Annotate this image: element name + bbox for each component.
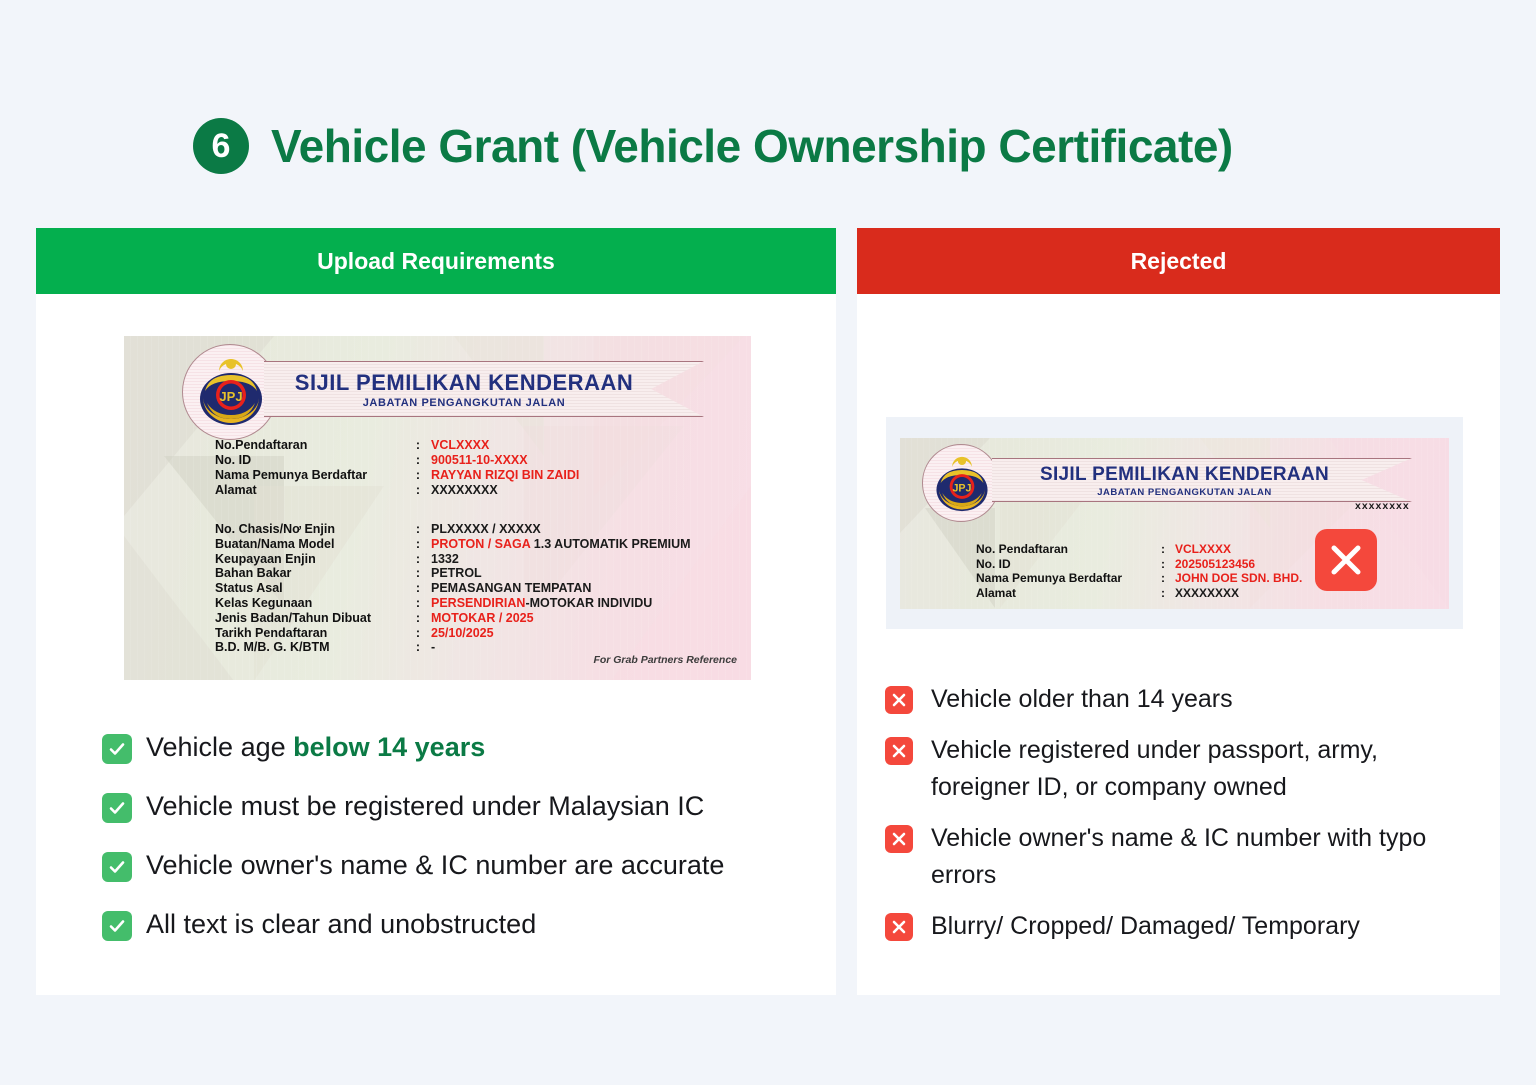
certificate-banner-title: SIJIL PEMILIKAN KENDERAAN: [992, 464, 1377, 486]
certificate-field-colon: :: [405, 611, 431, 626]
certificate-field-value: VCLXXXX: [431, 438, 489, 453]
certificate-field-value: -: [431, 640, 435, 655]
rejected-list-item: Vehicle older than 14 years: [885, 681, 1445, 718]
certificate-field-value: PLXXXXX / XXXXX: [431, 522, 541, 537]
certificate-field-value: 1332: [431, 552, 459, 567]
page-title: Vehicle Grant (Vehicle Ownership Certifi…: [271, 119, 1233, 173]
certificate-field-colon: :: [405, 596, 431, 611]
certificate-footnote: For Grab Partners Reference: [593, 654, 737, 666]
upload-requirements-list: Vehicle age below 14 yearsVehicle must b…: [102, 730, 802, 966]
certificate-field-colon: :: [1151, 557, 1175, 572]
step-number-badge: 6: [193, 118, 249, 174]
certificate-field-row: No. ID:900511-10-XXXX: [215, 453, 579, 468]
rejected-list-item-label: Blurry/ Cropped/ Damaged/ Temporary: [931, 908, 1360, 945]
certificate-field-value: 25/10/2025: [431, 626, 494, 641]
requirement-list-item: Vehicle owner's name & IC number are acc…: [102, 848, 802, 882]
certificate-field-row: Kelas Kegunaan:PERSENDIRIAN-MOTOKAR INDI…: [215, 596, 691, 611]
certificate-field-row: Status Asal:PEMASANGAN TEMPATAN: [215, 581, 691, 596]
jpj-emblem-icon: JPJ: [934, 455, 990, 513]
certificate-field-label: No.Pendaftaran: [215, 438, 405, 453]
certificate-field-colon: :: [1151, 542, 1175, 557]
requirement-list-item-label: Vehicle must be registered under Malaysi…: [146, 789, 704, 823]
certificate-field-value-tail: -MOTOKAR INDIVIDU: [525, 596, 652, 610]
certificate-field-label: Nama Pemunya Berdaftar: [976, 571, 1151, 586]
certificate-field-row: Alamat:XXXXXXXX: [215, 483, 579, 498]
rejected-list-item: Vehicle registered under passport, army,…: [885, 732, 1445, 806]
certificate-field-value: XXXXXXXX: [431, 483, 498, 498]
certificate-field-label: B.D. M/B. G. K/BTM: [215, 640, 405, 655]
check-icon: [102, 911, 132, 941]
jpj-emblem-icon: JPJ: [197, 357, 265, 427]
rejected-list-item-label: Vehicle owner's name & IC number with ty…: [931, 820, 1445, 894]
certificate-field-row: No. ID:202505123456: [976, 557, 1302, 572]
certificate-field-value: JOHN DOE SDN. BHD.: [1175, 571, 1302, 586]
certificate-field-colon: :: [1151, 571, 1175, 586]
certificate-banner-subtitle: JABATAN PENGANGKUTAN JALAN: [992, 487, 1377, 498]
certificate-field-colon: :: [405, 522, 431, 537]
certificate-field-label: Kelas Kegunaan: [215, 596, 405, 611]
certificate-field-colon: :: [405, 626, 431, 641]
certificate-field-row: Tarikh Pendaftaran:25/10/2025: [215, 626, 691, 641]
certificate-field-value: MOTOKAR / 2025: [431, 611, 534, 626]
certificate-field-label: No. Pendaftaran: [976, 542, 1151, 557]
certificate-field-row: Buatan/Nama Model:PROTON / SAGA 1.3 AUTO…: [215, 537, 691, 552]
certificate-field-value: PROTON / SAGA 1.3 AUTOMATIK PREMIUM: [431, 537, 691, 552]
requirement-list-item-label: All text is clear and unobstructed: [146, 907, 536, 941]
certificate-field-row: Jenis Badan/Tahun Dibuat:MOTOKAR / 2025: [215, 611, 691, 626]
rejected-reasons-list: Vehicle older than 14 yearsVehicle regis…: [885, 681, 1445, 959]
certificate-field-label: Nama Pemunya Berdaftar: [215, 468, 405, 483]
cross-icon: [885, 686, 913, 714]
certificate-field-colon: :: [405, 468, 431, 483]
certificate-field-row: Nama Pemunya Berdaftar:RAYYAN RIZQI BIN …: [215, 468, 579, 483]
requirement-list-item: Vehicle age below 14 years: [102, 730, 802, 764]
rejected-list-item: Vehicle owner's name & IC number with ty…: [885, 820, 1445, 894]
svg-text:JPJ: JPJ: [952, 482, 971, 494]
certificate-field-value: 202505123456: [1175, 557, 1255, 572]
certificate-field-value: RAYYAN RIZQI BIN ZAIDI: [431, 468, 579, 483]
certificate-field-value: VCLXXXX: [1175, 542, 1231, 557]
certificate-field-colon: :: [405, 552, 431, 567]
certificate-field-colon: :: [1151, 586, 1175, 601]
check-icon: [102, 793, 132, 823]
certificate-field-row: No. Chasis/Nơ Enjin:PLXXXXX / XXXXX: [215, 522, 691, 537]
certificate-field-row: No.Pendaftaran:VCLXXXX: [215, 438, 579, 453]
certificate-field-value: PETROL: [431, 566, 482, 581]
upload-requirements-heading: Upload Requirements: [36, 228, 836, 294]
certificate-field-value: XXXXXXXX: [1175, 586, 1239, 601]
certificate-field-colon: :: [405, 566, 431, 581]
certificate-field-value: PERSENDIRIAN-MOTOKAR INDIVIDU: [431, 596, 652, 611]
cross-icon: [885, 825, 913, 853]
certificate-field-label: Status Asal: [215, 581, 405, 596]
requirement-emphasis: below 14 years: [293, 732, 485, 762]
rejected-list-item: Blurry/ Cropped/ Damaged/ Temporary: [885, 908, 1445, 945]
cross-icon: [885, 737, 913, 765]
certificate-banner-subtitle: JABATAN PENGANGKUTAN JALAN: [264, 397, 664, 409]
certificate-field-label: Keupayaan Enjin: [215, 552, 405, 567]
certificate-field-row: Nama Pemunya Berdaftar:JOHN DOE SDN. BHD…: [976, 571, 1302, 586]
rejected-cross-overlay-icon: [1315, 529, 1377, 591]
rejected-heading: Rejected: [857, 228, 1500, 294]
page-header: 6 Vehicle Grant (Vehicle Ownership Certi…: [193, 118, 1233, 174]
certificate-field-value-tail: 1.3 AUTOMATIK PREMIUM: [530, 537, 690, 551]
certificate-vehicle-fields: No. Chasis/Nơ Enjin:PLXXXXX / XXXXXBuata…: [215, 522, 691, 655]
rejected-certificate-fields: No. Pendaftaran:VCLXXXXNo. ID:2025051234…: [976, 542, 1302, 600]
requirement-list-item-label: Vehicle age below 14 years: [146, 730, 485, 764]
certificate-field-row: Bahan Bakar:PETROL: [215, 566, 691, 581]
certificate-field-value: PEMASANGAN TEMPATAN: [431, 581, 591, 596]
certificate-field-colon: :: [405, 483, 431, 498]
requirement-list-item: Vehicle must be registered under Malaysi…: [102, 789, 802, 823]
certificate-field-colon: :: [405, 453, 431, 468]
vehicle-grant-sample-image: JPJ SIJIL PEMILIKAN KENDERAAN JABATAN PE…: [124, 336, 751, 680]
certificate-field-label: No. Chasis/Nơ Enjin: [215, 522, 405, 537]
certificate-field-label: Alamat: [215, 483, 405, 498]
certificate-banner-title: SIJIL PEMILIKAN KENDERAAN: [264, 370, 664, 396]
svg-text:JPJ: JPJ: [219, 389, 242, 404]
certificate-masked-text: xxxxxxxx: [1355, 500, 1410, 512]
certificate-field-label: Tarikh Pendaftaran: [215, 626, 405, 641]
cross-icon: [885, 913, 913, 941]
certificate-field-label: Bahan Bakar: [215, 566, 405, 581]
certificate-field-row: Alamat:XXXXXXXX: [976, 586, 1302, 601]
certificate-field-label: Alamat: [976, 586, 1151, 601]
certificate-field-label: No. ID: [976, 557, 1151, 572]
rejected-vehicle-grant-image: JPJ SIJIL PEMILIKAN KENDERAAN JABATAN PE…: [900, 438, 1449, 609]
certificate-field-row: B.D. M/B. G. K/BTM:-: [215, 640, 691, 655]
certificate-field-label: No. ID: [215, 453, 405, 468]
requirement-list-item: All text is clear and unobstructed: [102, 907, 802, 941]
check-icon: [102, 852, 132, 882]
jpj-emblem-circle: JPJ: [922, 444, 1000, 522]
check-icon: [102, 734, 132, 764]
certificate-field-row: Keupayaan Enjin:1332: [215, 552, 691, 567]
certificate-field-colon: :: [405, 640, 431, 655]
certificate-owner-fields: No.Pendaftaran:VCLXXXXNo. ID:900511-10-X…: [215, 438, 579, 498]
certificate-field-colon: :: [405, 537, 431, 552]
certificate-field-label: Buatan/Nama Model: [215, 537, 405, 552]
requirement-list-item-label: Vehicle owner's name & IC number are acc…: [146, 848, 724, 882]
certificate-field-label: Jenis Badan/Tahun Dibuat: [215, 611, 405, 626]
certificate-field-colon: :: [405, 438, 431, 453]
rejected-sample-frame: JPJ SIJIL PEMILIKAN KENDERAAN JABATAN PE…: [886, 417, 1463, 629]
rejected-list-item-label: Vehicle older than 14 years: [931, 681, 1233, 718]
certificate-field-value: 900511-10-XXXX: [431, 453, 528, 468]
rejected-list-item-label: Vehicle registered under passport, army,…: [931, 732, 1445, 806]
certificate-field-colon: :: [405, 581, 431, 596]
certificate-field-row: No. Pendaftaran:VCLXXXX: [976, 542, 1302, 557]
